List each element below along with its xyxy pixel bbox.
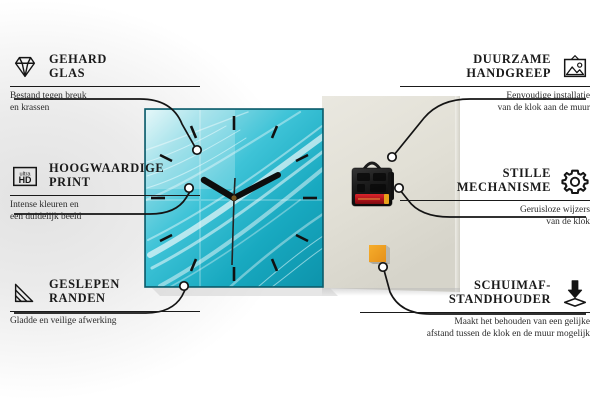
feature-header: ultra HD HOOGWAARDIGE PRINT [10,161,200,191]
feature-title: DUURZAME HANDGREEP [466,53,551,80]
feature-header: STILLE MECHANISME [400,166,590,196]
feature-divider [10,86,200,87]
feature-stille-mechanisme: STILLE MECHANISME Geruisloze wijzers van… [400,166,590,228]
feature-description: Gladde en veilige afwerking [10,316,200,327]
feature-duurzame-handgreep: DUURZAME HANDGREEP Eenvoudige installati… [400,52,590,114]
feature-title: GEHARD GLAS [49,53,107,80]
ultra-hd-icon: ultra HD [10,161,40,191]
feature-title: SCHUIMAF- STANDHOUDER [449,279,551,306]
beveled-edges-icon [10,277,40,307]
feature-description: Eenvoudige installatie van de klok aan d… [400,91,590,114]
feature-divider [360,312,590,313]
foam-standoff-pad [369,245,390,264]
feature-header: DUURZAME HANDGREEP [400,52,590,82]
feature-hoogwaardige-print: ultra HD HOOGWAARDIGE PRINT Intense kleu… [10,161,200,223]
feature-description: Bestand tegen breuk en krassen [10,91,200,114]
feature-header: GESLEPEN RANDEN [10,277,200,307]
feature-title: STILLE MECHANISME [457,167,551,194]
diamond-icon [10,52,40,82]
picture-frame-icon [560,52,590,82]
press-pad-icon [560,278,590,308]
feature-title: GESLEPEN RANDEN [49,278,120,305]
svg-text:HD: HD [19,175,32,185]
feature-divider [400,86,590,87]
feature-divider [10,311,200,312]
feature-schuimaf-standhouder: SCHUIMAF- STANDHOUDER Maakt het behouden… [360,278,590,340]
feature-gehard-glas: GEHARD GLAS Bestand tegen breuk en krass… [10,52,200,114]
clock-mechanism [352,163,394,206]
feature-title: HOOGWAARDIGE PRINT [49,162,164,189]
feature-divider [400,200,590,201]
feature-header: SCHUIMAF- STANDHOUDER [360,278,590,308]
feature-divider [10,195,200,196]
feature-geslepen-randen: GESLEPEN RANDEN Gladde en veilige afwerk… [10,277,200,328]
feature-description: Intense kleuren en een duidelijk beeld [10,200,200,223]
feature-description: Geruisloze wijzers van de klok [400,205,590,228]
gear-icon [560,166,590,196]
infographic-canvas: GEHARD GLAS Bestand tegen breuk en krass… [0,0,600,400]
feature-description: Maakt het behouden van een gelijke afsta… [360,317,590,340]
feature-header: GEHARD GLAS [10,52,200,82]
